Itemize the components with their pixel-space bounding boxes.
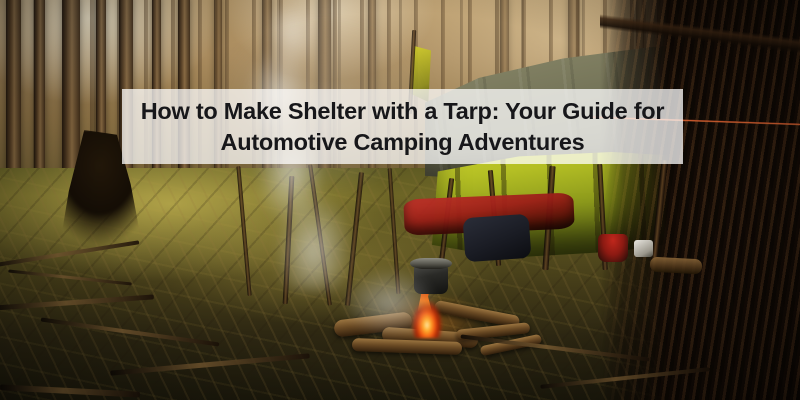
enamel-mug (634, 240, 653, 257)
page-title: How to Make Shelter with a Tarp: Your Gu… (141, 96, 665, 157)
title-banner: How to Make Shelter with a Tarp: Your Gu… (122, 89, 683, 164)
brush-wall (600, 0, 800, 400)
hero-banner: How to Make Shelter with a Tarp: Your Gu… (0, 0, 800, 400)
firewood-log (650, 257, 703, 275)
brush-ridge-beam (600, 12, 800, 54)
cook-pot (598, 234, 628, 262)
